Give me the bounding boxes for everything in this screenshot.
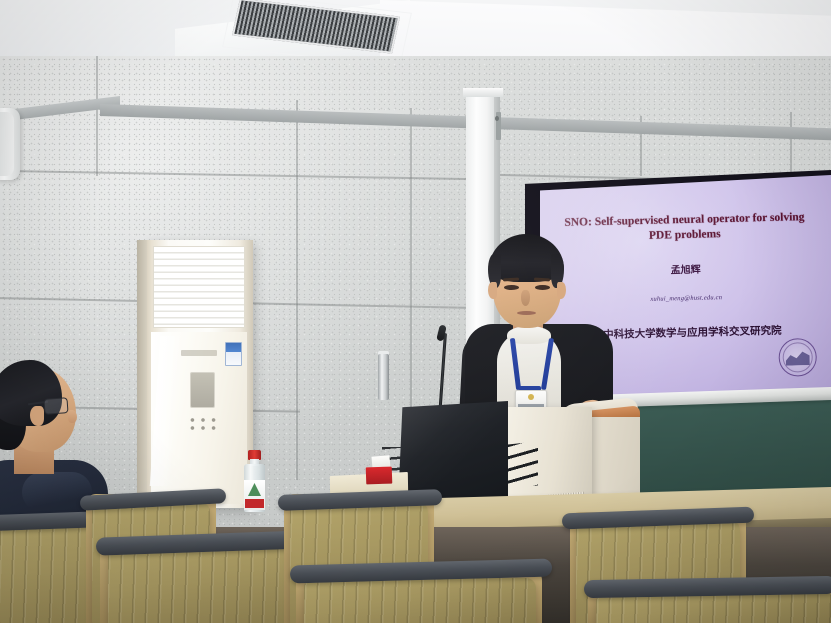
hust-university-seal-icon bbox=[778, 338, 817, 377]
seat-back[interactable] bbox=[108, 548, 294, 623]
slide-title-line1: SNO: Self-supervised neural operator for… bbox=[564, 211, 804, 229]
audience-ear bbox=[30, 406, 44, 426]
podium-vent-slots bbox=[506, 441, 538, 488]
speaker-face bbox=[0, 112, 14, 176]
presenter-right-eye bbox=[535, 285, 550, 290]
ac-control-buttons[interactable] bbox=[187, 416, 219, 432]
audience-nose bbox=[68, 410, 77, 423]
seat-back[interactable] bbox=[304, 578, 536, 623]
bottle-label-band bbox=[245, 499, 264, 508]
lecture-hall-photo: SNO: Self-supervised neural operator for… bbox=[0, 0, 831, 623]
presenter-mouth bbox=[517, 311, 536, 315]
slide-title-line2: PDE problems bbox=[649, 228, 721, 242]
presenter-nose bbox=[521, 290, 530, 306]
ac-display-panel bbox=[190, 372, 215, 408]
presenter-left-eye bbox=[504, 285, 519, 290]
wall-seam-vertical bbox=[296, 100, 298, 480]
presenter-right-ear bbox=[557, 282, 566, 299]
pillar-cap bbox=[463, 88, 503, 97]
water-bottle bbox=[243, 450, 267, 512]
wall-seam-vertical bbox=[790, 112, 792, 178]
pillar-latch-screw bbox=[495, 116, 499, 121]
desk-red-item bbox=[366, 467, 393, 485]
eyeglasses-icon bbox=[43, 397, 68, 415]
ac-brand-mark bbox=[181, 350, 217, 356]
floor-standing-air-conditioner bbox=[145, 240, 253, 508]
presenter-left-ear bbox=[488, 282, 497, 299]
wall-speaker-icon bbox=[0, 108, 20, 180]
ac-energy-label bbox=[225, 342, 242, 366]
ac-top-grille bbox=[153, 246, 245, 328]
ac-side-panel bbox=[137, 240, 147, 508]
silver-cylinder bbox=[378, 354, 389, 400]
wall-seam-vertical bbox=[96, 56, 98, 176]
